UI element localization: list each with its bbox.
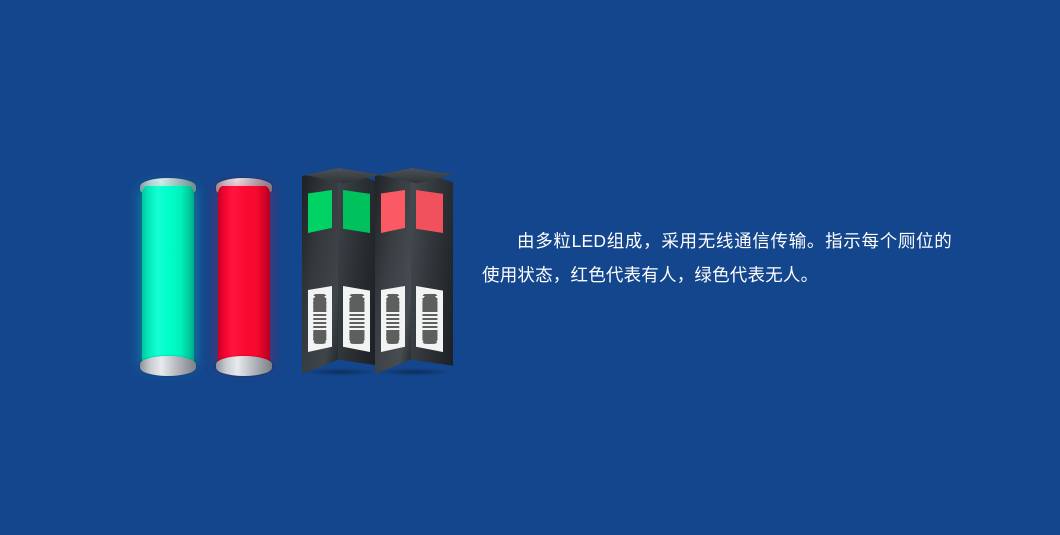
tube-cap-bottom-icon xyxy=(140,356,196,376)
status-led-panel-left xyxy=(381,190,405,233)
tube-body-green xyxy=(142,186,194,368)
restroom-pictogram-icon xyxy=(386,294,399,344)
restroom-pictogram-icon xyxy=(422,294,437,344)
status-led-panel-right xyxy=(343,190,370,233)
slide-canvas: 由多粒LED组成，采用无线通信传输。指示每个厕位的使用状态，红色代表有人，绿色代… xyxy=(0,0,1060,535)
restroom-sign-panel-right xyxy=(343,286,370,352)
product-description: 由多粒LED组成，采用无线通信传输。指示每个厕位的使用状态，红色代表有人，绿色代… xyxy=(482,224,952,292)
restroom-pictogram-icon xyxy=(313,294,326,344)
tube-cap-bottom-icon xyxy=(216,356,272,376)
indicator-column-red xyxy=(375,168,453,374)
column-shadow xyxy=(304,368,378,376)
product-figure xyxy=(130,160,450,390)
restroom-sign-panel-right xyxy=(416,286,443,352)
column-shadow xyxy=(377,368,451,376)
restroom-sign-panel-left xyxy=(381,286,405,352)
status-led-panel-right xyxy=(416,190,443,233)
indicator-tube-red xyxy=(218,176,270,376)
indicator-column-green xyxy=(302,168,380,374)
tube-body-red xyxy=(218,186,270,368)
restroom-pictogram-icon xyxy=(349,294,364,344)
status-led-panel-left xyxy=(308,190,332,233)
indicator-tube-green xyxy=(142,176,194,376)
restroom-sign-panel-left xyxy=(308,286,332,352)
